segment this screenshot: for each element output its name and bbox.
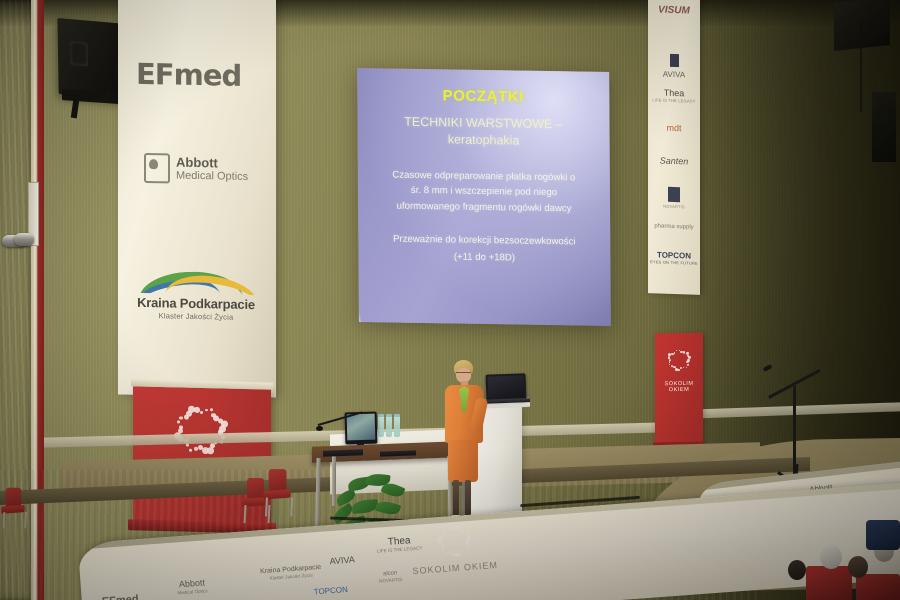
sponsor-column-right: VISUM AVIVA Thea LIFE IS THE LEGACY mdt …: [648, 0, 700, 295]
barrier-logo-sokolim: SOKOLIM OKIEM: [412, 561, 498, 577]
presenter-glasses-icon: [456, 372, 471, 376]
slide-title: POCZĄTKI: [367, 86, 599, 107]
kraina-name: Kraina Podkarpacie: [132, 295, 260, 312]
barrier-alcon-name: alcon: [383, 570, 398, 577]
kraina-arc-icon: [137, 263, 255, 295]
chair-stage-2[interactable]: [263, 469, 290, 505]
sponsor-banner-left: EFmed Abbott Medical Optics Kraina Podka…: [118, 0, 276, 398]
audience-head-1: [820, 545, 842, 569]
sponsor-topcon-sub: EYES ON THE FUTURE: [648, 260, 700, 266]
barrier-abbott-name: Abbott: [179, 577, 206, 589]
barrier-logo-thea: Thea LIFE IS THE LEGACY: [376, 534, 423, 553]
sponsor-alcon: NOVARTIS: [648, 186, 700, 210]
barrier-logo-abbott: Abbott Medical Optics: [177, 578, 208, 595]
sponsor-thea: Thea LIFE IS THE LEGACY: [648, 88, 700, 104]
slide-content: POCZĄTKI TECHNIKI WARSTWOWE – keratophak…: [357, 68, 611, 326]
slide-paragraph-2: Przeważnie do korekcji bezsoczewkowości …: [368, 232, 600, 268]
presenter-legs: [453, 480, 473, 518]
sponsor-thea-sub: LIFE IS THE LEGACY: [648, 98, 700, 104]
sponsor-aviva: AVIVA: [648, 53, 700, 80]
abbott-tagline: Medical Optics: [176, 169, 248, 182]
kraina-subtitle: Klaster Jakości Życia: [132, 311, 260, 322]
audience-head-2: [848, 556, 868, 578]
sokolim-okiem-banner-right: SOKOLIM OKIEM: [655, 333, 703, 444]
sokolim-okiem-label-right: SOKOLIM OKIEM: [655, 381, 703, 394]
wall-loudspeaker-right-lower: [872, 92, 896, 162]
abbott-mark-icon: [144, 153, 170, 183]
chair-stage-3[interactable]: [1, 488, 24, 519]
microphone-head-icon: [763, 364, 773, 372]
sponsor-topcon: TOPCON EYES ON THE FUTURE: [648, 251, 700, 266]
barrier-abbott-sub: Medical Optics: [177, 588, 207, 595]
slide-p1-line-3: uformowanego fragmentu rogówki dawcy: [372, 198, 596, 217]
conference-hall-scene: EFmed Abbott Medical Optics Kraina Podka…: [0, 0, 900, 600]
wall-loudspeaker-right: [834, 0, 890, 51]
aviva-mark-icon: [670, 54, 679, 67]
barrier-logo-alcon: alcon NOVARTIS: [379, 570, 403, 583]
barrier-logo-efmed: EFmed: [102, 593, 139, 600]
projection-surface: POCZĄTKI TECHNIKI WARSTWOWE – keratophak…: [357, 68, 611, 326]
abbott-name: Abbott: [176, 156, 248, 171]
presenter-person: [440, 360, 486, 524]
sponsor-alcon-sub: NOVARTIS: [648, 204, 700, 210]
presenter-laptop[interactable]: [486, 373, 527, 400]
sponsor-aviva-label: AVIVA: [663, 70, 685, 80]
barrier-thea-sub: LIFE IS THE LEGACY: [377, 545, 423, 553]
audience-head-4: [788, 560, 806, 580]
audience-seat-2: [856, 574, 900, 600]
slide-paragraph-1: Czasowe odpreparowanie płatka rogówki o …: [372, 167, 596, 217]
presenter-skirt: [448, 440, 478, 482]
desk-microphone-head-icon: [316, 426, 323, 431]
door-handle-secondary-icon[interactable]: [14, 233, 34, 246]
barrier-sokolim-ring-icon: [435, 523, 473, 560]
monitor-screen: [347, 414, 376, 441]
speaker-cone-icon: [70, 41, 88, 67]
sponsor-mdt: mdt: [648, 123, 700, 134]
sokolim-okiem-ring-icon: [171, 401, 231, 458]
speaker-cable: [860, 22, 862, 112]
barrier-logo-kraina: Kraina Podkarpacie Klaster Jakości Życia: [260, 564, 322, 581]
logo-abbott: Abbott Medical Optics: [144, 153, 248, 185]
slide-subtitle: TECHNIKI WARSTWOWE – keratophakia: [367, 113, 599, 150]
laptop-screen: [488, 375, 525, 398]
sokolim-okiem-ring-icon-right: [666, 347, 692, 373]
alcon-mark-icon: [668, 187, 680, 202]
audience-seat-1: [806, 566, 852, 600]
sponsor-pharma-supply: pharma supply: [648, 223, 700, 231]
projection-screen: POCZĄTKI TECHNIKI WARSTWOWE – keratophak…: [357, 68, 611, 326]
logo-kraina-podkarpacie: Kraina Podkarpacie Klaster Jakości Życia: [132, 263, 260, 322]
logo-efmed: EFmed: [136, 57, 241, 93]
barrier-logo-aviva: AVIVA: [329, 555, 355, 567]
slide-subtitle-line-2: keratophakia: [368, 130, 600, 151]
sponsor-visum: VISUM: [648, 5, 700, 17]
sponsor-santen: Santen: [648, 156, 700, 167]
audience-seat-3: [866, 520, 900, 550]
water-bottles[interactable]: [378, 414, 406, 436]
barrier-alcon-sub: NOVARTIS: [379, 577, 402, 584]
barrier-logo-topcon: TOPCON: [314, 586, 349, 597]
